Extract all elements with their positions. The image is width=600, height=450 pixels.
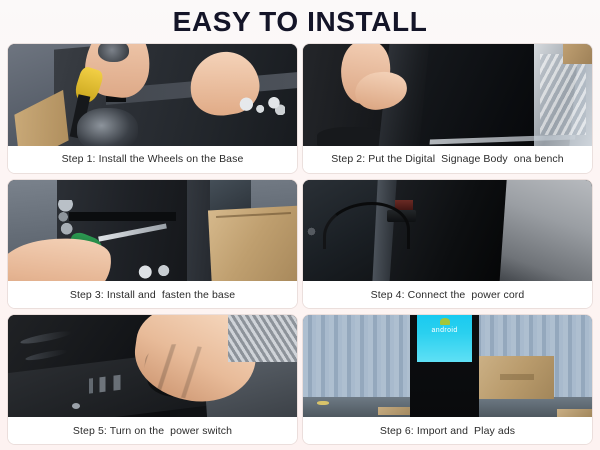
cabinet-slot <box>69 212 176 221</box>
step-card-2: Step 2: Put the Digital Signage Body ona… <box>303 44 592 173</box>
cardboard-box-label <box>500 374 535 380</box>
photo-install-wheels-on-base <box>8 44 297 146</box>
step-caption-6: Step 6: Import and Play ads <box>303 417 592 444</box>
photo-connect-power-cord <box>303 180 592 282</box>
step-caption-5: Step 5: Turn on the power switch <box>8 417 297 444</box>
step-card-4: Step 4: Connect the power cord <box>303 180 592 309</box>
step-caption-3: Step 3: Install and fasten the base <box>8 281 297 308</box>
caster-wheel <box>77 108 138 146</box>
loose-screws <box>239 97 285 115</box>
plastic-wrap-folds <box>540 54 586 135</box>
sleeve-fabric <box>228 315 297 362</box>
steps-grid: Step 1: Install the Wheels on the Base S… <box>8 44 592 444</box>
photo-put-signage-body-on-bench <box>303 44 592 146</box>
floor-marker <box>317 401 329 405</box>
step-caption-4: Step 4: Connect the power cord <box>303 281 592 308</box>
step-card-3: Step 3: Install and fasten the base <box>8 180 297 309</box>
page-title: EASY TO INSTALL <box>173 8 428 36</box>
step-card-1: Step 1: Install the Wheels on the Base <box>8 44 297 173</box>
base-bracket-bolts <box>54 200 77 235</box>
cardboard-pallet-right <box>557 409 592 417</box>
step-card-6: android Step 6: Import and Play ads <box>303 315 592 444</box>
concrete-floor <box>497 180 592 282</box>
android-logo-text: android <box>417 323 472 337</box>
base-screws <box>135 265 175 279</box>
photo-install-and-fasten-base <box>8 180 297 282</box>
power-led-indicator <box>72 403 81 409</box>
title-bar: EASY TO INSTALL <box>8 0 592 44</box>
panel-screws <box>306 226 318 236</box>
easy-to-install-infographic: EASY TO INSTALL Step 1: Install the Whee… <box>0 0 600 450</box>
step-caption-2: Step 2: Put the Digital Signage Body ona… <box>303 146 592 173</box>
photo-turn-on-power-switch <box>8 315 297 417</box>
worker-shoe <box>317 127 386 145</box>
cardboard-box <box>563 44 592 64</box>
step-caption-1: Step 1: Install the Wheels on the Base <box>8 146 297 173</box>
photo-import-and-play-ads: android <box>303 315 592 417</box>
step-card-5: Step 5: Turn on the power switch <box>8 315 297 444</box>
cabinet-glass-panel <box>210 180 250 211</box>
